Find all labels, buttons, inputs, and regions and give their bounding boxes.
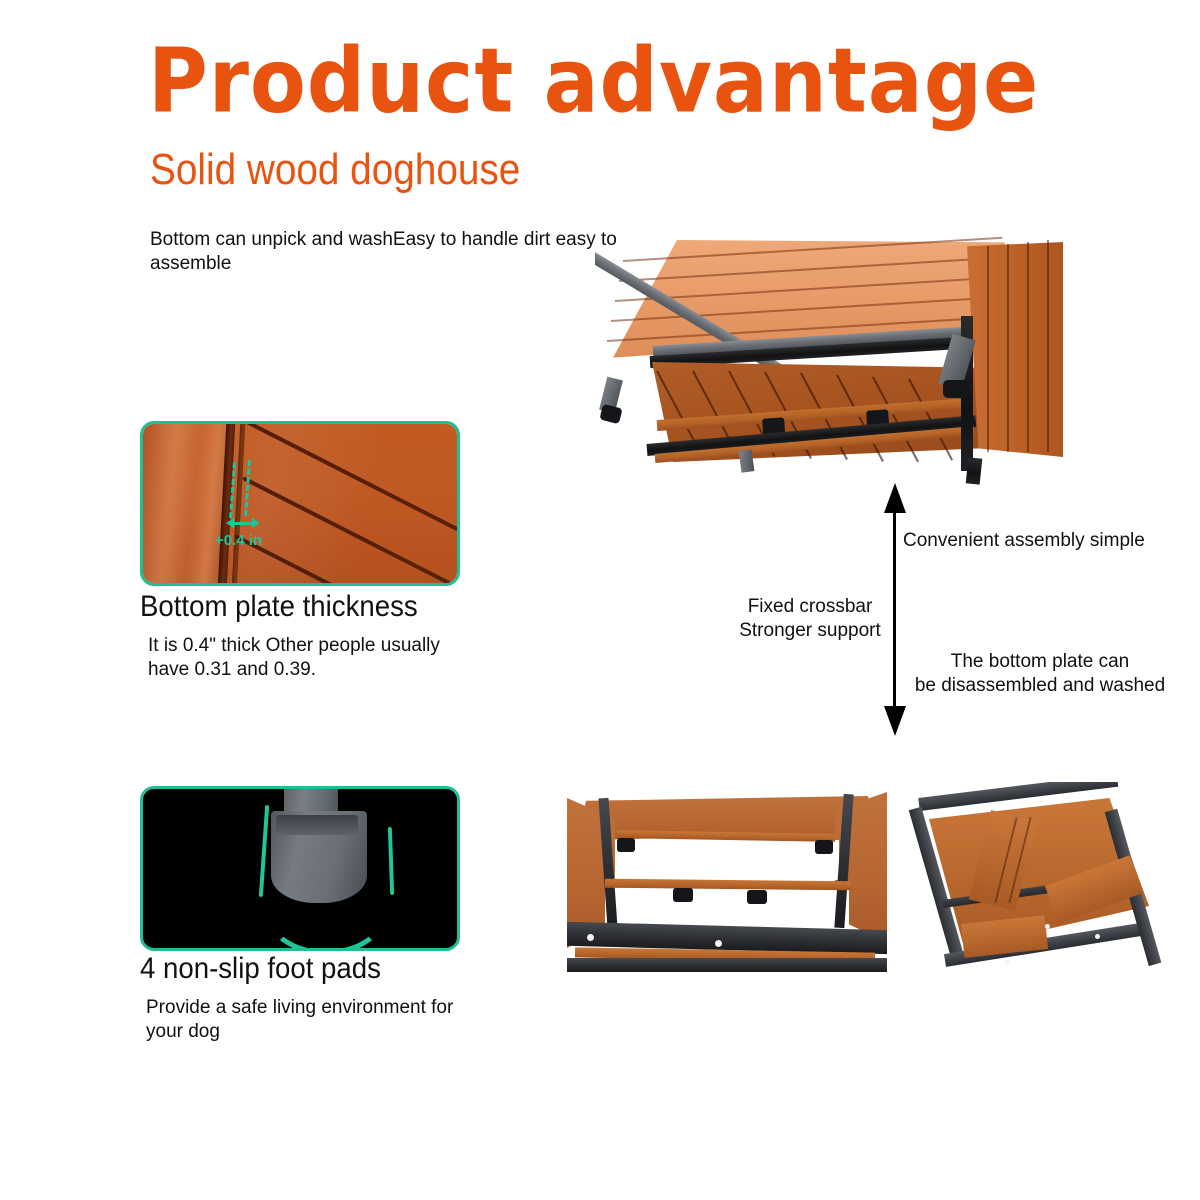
- leg: [966, 457, 983, 484]
- callout-crossbar-line1: Fixed crossbar: [735, 595, 885, 619]
- highlight-line-right: [388, 827, 394, 895]
- foot-pad: [617, 838, 635, 852]
- main-product-photo: [595, 228, 1065, 493]
- open-gap-upper: [617, 840, 839, 880]
- callout-bottom-plate-line2: be disassembled and washed: [905, 674, 1175, 698]
- callout-crossbar: Fixed crossbar Stronger support: [735, 595, 885, 644]
- screw-head: [1005, 960, 1010, 965]
- screw-head: [587, 934, 594, 941]
- screw-head: [715, 940, 722, 947]
- disassembled-frame-photo: [905, 782, 1180, 977]
- feature-desc-thickness: It is 0.4" thick Other people usually ha…: [148, 634, 448, 682]
- measure-label: +0.4 in: [215, 532, 262, 549]
- pad-cap-rim: [276, 815, 358, 835]
- highlight-arc: [265, 869, 387, 951]
- arrow-head-down: [884, 706, 906, 736]
- bottom-plate-thickness-photo: +0.4 in: [140, 421, 460, 586]
- bottom-rail: [567, 958, 887, 972]
- product-advantage-infographic: Product advantage Solid wood doghouse Bo…: [0, 0, 1200, 1200]
- side-plank-seam: [1027, 242, 1029, 452]
- feature-title-thickness: Bottom plate thickness: [140, 592, 418, 622]
- callout-bottom-plate-line1: The bottom plate can: [905, 650, 1175, 674]
- highlight-line-left: [259, 805, 269, 897]
- page-subtitle: Solid wood doghouse: [150, 148, 520, 192]
- foot-pad: [943, 380, 969, 398]
- interior-frame-photo: [567, 782, 887, 977]
- screw-head: [1045, 924, 1050, 929]
- side-plank-seam: [987, 246, 989, 452]
- foot-pad: [747, 890, 767, 904]
- page-title: Product advantage: [148, 36, 1039, 125]
- foot-pad: [815, 840, 833, 854]
- callout-bottom-plate: The bottom plate can be disassembled and…: [905, 650, 1175, 699]
- foot-pads-photo: [140, 786, 460, 951]
- arrow-shaft: [893, 509, 896, 710]
- measure-arrow: [233, 522, 253, 525]
- vertical-double-arrow-icon: [889, 483, 900, 736]
- foot-pad: [673, 888, 693, 902]
- screw-head: [1095, 934, 1100, 939]
- side-plank-seam: [1047, 240, 1049, 452]
- side-plank-seam: [1007, 244, 1009, 452]
- callout-crossbar-line2: Stronger support: [735, 619, 885, 643]
- feature-title-footpads: 4 non-slip foot pads: [140, 954, 381, 984]
- feature-desc-footpads: Provide a safe living environment for yo…: [146, 996, 476, 1044]
- foot-pad: [599, 404, 622, 424]
- plank-seam: [212, 584, 460, 586]
- intro-text: Bottom can unpick and washEasy to handle…: [150, 228, 640, 277]
- callout-assembly: Convenient assembly simple: [903, 529, 1145, 553]
- open-gap-lower: [605, 886, 849, 924]
